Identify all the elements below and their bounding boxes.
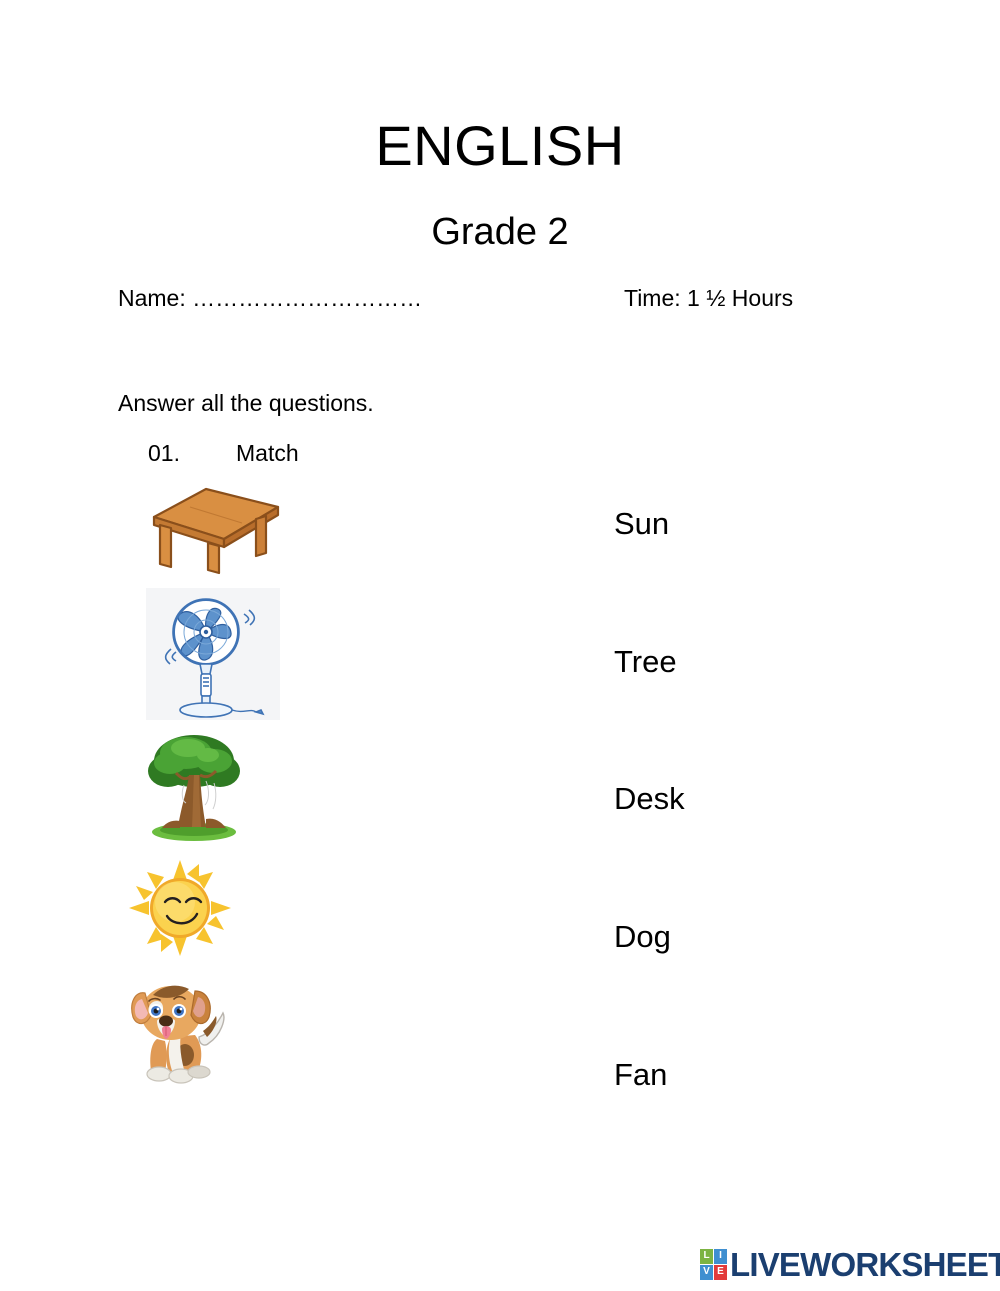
tree-picture[interactable] — [144, 731, 244, 841]
name-field-label[interactable]: Name: ………………………… — [118, 285, 422, 312]
logo-tiles: L I V E — [700, 1249, 727, 1280]
logo-tile-e: E — [714, 1265, 727, 1280]
match-exercise: Sun Tree Desk Dog Fan — [0, 470, 1000, 1110]
match-word-dog[interactable]: Dog — [614, 921, 671, 952]
grade-subtitle: Grade 2 — [0, 213, 1000, 251]
question-label: Match — [236, 440, 299, 467]
student-meta-row: Name: ………………………… Time: 1 ½ Hours — [118, 285, 882, 317]
question-01-heading: 01.Match — [148, 440, 299, 467]
worksheet-page: ENGLISH Grade 2 Name: ………………………… Time: 1… — [0, 0, 1000, 1291]
logo-tile-v: V — [700, 1265, 713, 1280]
time-allowed-label: Time: 1 ½ Hours — [624, 285, 793, 312]
desk-picture[interactable] — [146, 481, 284, 575]
logo-wordmark: LIVEWORKSHEETS — [730, 1248, 1000, 1281]
match-word-sun[interactable]: Sun — [614, 508, 669, 539]
logo-tile-l: L — [700, 1249, 713, 1264]
page-title: ENGLISH — [0, 118, 1000, 174]
match-word-fan[interactable]: Fan — [614, 1059, 667, 1090]
instruction-text: Answer all the questions. — [118, 390, 374, 417]
logo-tile-i: I — [714, 1249, 727, 1264]
dog-picture[interactable] — [119, 973, 231, 1087]
liveworksheets-logo[interactable]: L I V E LIVEWORKSHEETS — [700, 1246, 1000, 1282]
question-number: 01. — [148, 440, 236, 467]
fan-picture[interactable] — [146, 588, 280, 720]
match-word-desk[interactable]: Desk — [614, 783, 685, 814]
match-word-tree[interactable]: Tree — [614, 646, 677, 677]
sun-picture[interactable] — [125, 858, 235, 958]
